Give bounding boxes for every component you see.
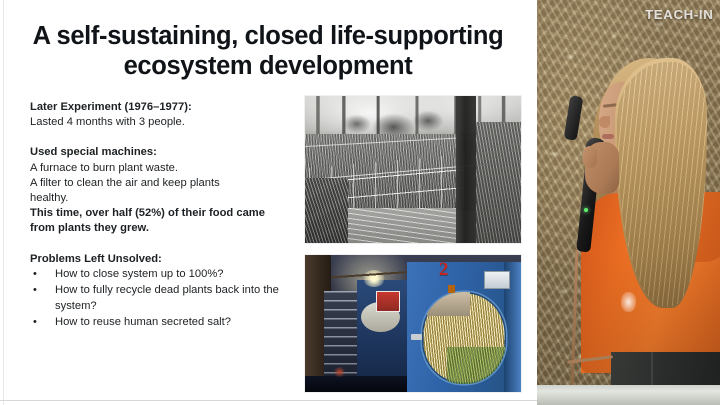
- speaker-figure: [537, 0, 720, 405]
- photo-viewing-port: [422, 292, 506, 384]
- list-item-label: How to reuse human secreted salt?: [55, 316, 231, 328]
- photo-floor: [305, 376, 407, 392]
- baseboard: [537, 385, 720, 405]
- photo-equipment-rack: [324, 291, 361, 376]
- section-line: A furnace to burn plant waste.: [30, 161, 292, 176]
- spacer: [30, 130, 292, 145]
- photo-control-panel: [484, 271, 510, 288]
- photo-port-latch: [448, 285, 456, 293]
- bullet-icon: •: [33, 283, 37, 298]
- speaker-shirt-logo: [621, 292, 636, 312]
- slide-body: Later Experiment (1976–1977): Lasted 4 m…: [30, 100, 292, 331]
- problem-list: • How to close system up to 100%? • How …: [30, 267, 292, 331]
- list-item: • How to reuse human secreted salt?: [30, 315, 292, 330]
- section-later-experiment: Later Experiment (1976–1977): Lasted 4 m…: [30, 100, 292, 130]
- photo-foreground-plants: [305, 178, 348, 243]
- section-heading: Problems Left Unsolved:: [30, 252, 292, 267]
- list-item-label: How to close system up to 100%?: [55, 268, 224, 280]
- slide-title: A self-sustaining, closed life-supportin…: [20, 21, 516, 81]
- section-line: A filter to clean the air and keep plant…: [30, 176, 292, 191]
- section-problems-left-unsolved: Problems Left Unsolved: • How to close s…: [30, 252, 292, 331]
- bios-chamber-photo: 2: [305, 255, 521, 392]
- section-line-emphasis: from plants they grew.: [30, 221, 292, 236]
- photo-wall-poster: [376, 291, 400, 312]
- section-line: healthy.: [30, 191, 292, 206]
- presentation-slide: A self-sustaining, closed life-supportin…: [0, 0, 537, 405]
- speaker-lips: [602, 134, 614, 139]
- slide-bottom-edge: [0, 400, 537, 401]
- spacer: [30, 237, 292, 252]
- photo-red-indicator: [333, 367, 346, 377]
- chamber-number-label: 2: [439, 259, 449, 281]
- section-line-emphasis: This time, over half (52%) of their food…: [30, 206, 292, 221]
- list-item: • How to fully recycle dead plants back …: [30, 283, 292, 314]
- photo-support-pillar: [456, 96, 475, 243]
- slide-left-edge: [3, 0, 4, 405]
- section-used-special-machines: Used special machines: A furnace to burn…: [30, 145, 292, 236]
- photo-right-plants: [476, 122, 521, 243]
- audio-cable: [571, 250, 579, 390]
- section-line: Lasted 4 months with 3 people.: [30, 115, 292, 130]
- photo-port-green-shoots: [447, 347, 506, 384]
- speaker-thumb: [583, 146, 597, 168]
- section-heading: Later Experiment (1976–1977):: [30, 100, 292, 115]
- microphone-led-icon: [584, 208, 588, 212]
- photo-port-reflection: [427, 292, 471, 316]
- screen: A self-sustaining, closed life-supportin…: [0, 0, 720, 405]
- teach-in-watermark: TEACH-IN: [646, 8, 714, 22]
- speaker-video-pane[interactable]: TEACH-IN: [537, 0, 720, 405]
- greenhouse-grain-photo: [305, 96, 521, 243]
- bullet-icon: •: [33, 267, 37, 282]
- microphone-upper-icon: [564, 95, 584, 140]
- bullet-icon: •: [33, 315, 37, 330]
- section-heading: Used special machines:: [30, 145, 292, 160]
- speaker-nose: [599, 116, 610, 128]
- list-item-label: How to fully recycle dead plants back in…: [55, 284, 279, 311]
- photo-door-latch: [411, 334, 422, 339]
- list-item: • How to close system up to 100%?: [30, 267, 292, 282]
